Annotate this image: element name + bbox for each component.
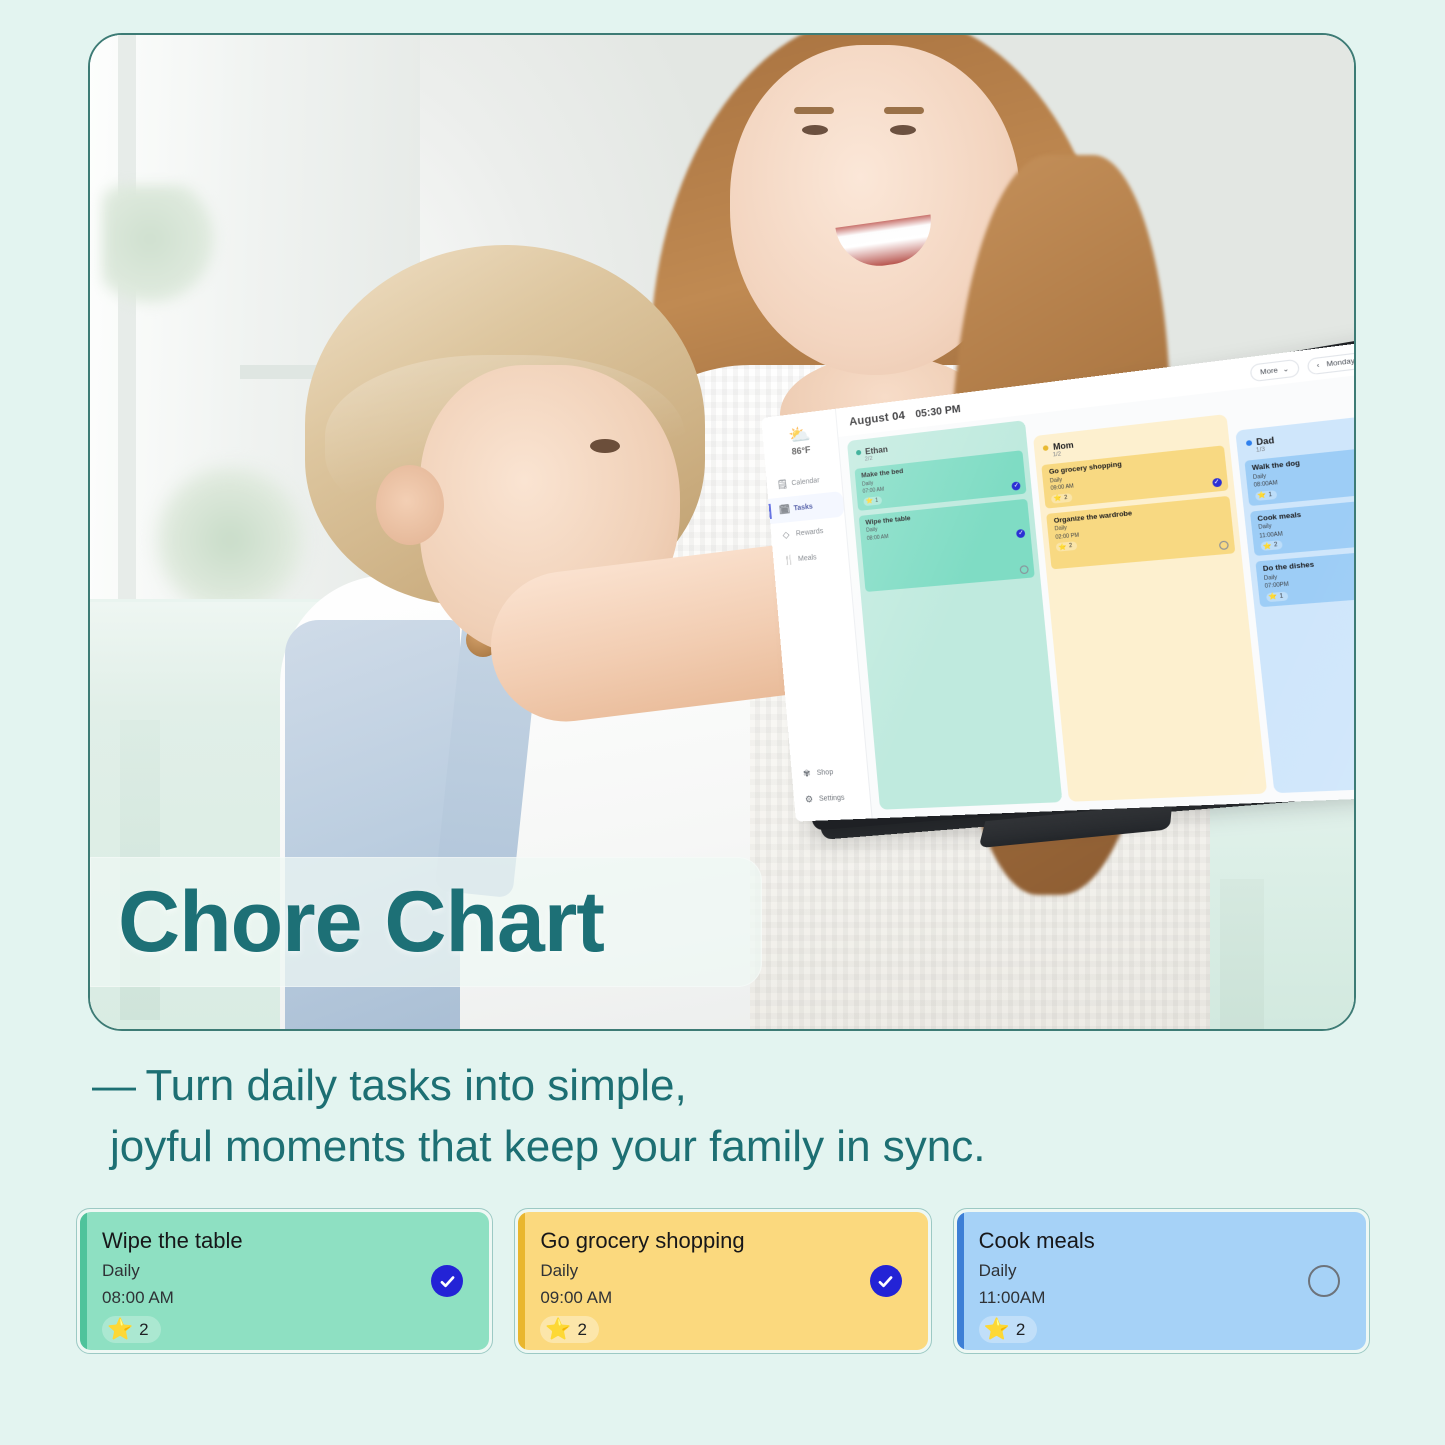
chore-title: Wipe the table [102, 1228, 471, 1254]
chore-star-chip: ⭐ 2 [102, 1316, 161, 1343]
more-label: More [1260, 366, 1278, 376]
status-dot [1043, 445, 1049, 451]
sidebar-item-settings[interactable]: ⚙ Settings [793, 784, 871, 813]
sidebar-item-label: Calendar [791, 477, 820, 487]
task-stars: 2 [1069, 543, 1073, 550]
check-icon [876, 1272, 895, 1291]
sidebar-item-label: Settings [819, 794, 845, 802]
task-stars: 2 [1064, 494, 1068, 501]
plant-blur-decor-2 [150, 465, 310, 615]
tagline-line-1: Turn daily tasks into simple, [145, 1061, 686, 1110]
star-icon: ⭐ [545, 1319, 571, 1340]
star-icon: ⭐ [1053, 494, 1062, 502]
sidebar-item-label: Rewards [796, 528, 824, 538]
tagline-line-2: joyful moments that keep your family in … [92, 1117, 1292, 1178]
rewards-icon: ◇ [781, 529, 792, 541]
chore-stars: 2 [1016, 1320, 1025, 1340]
chore-card[interactable]: Go grocery shopping Daily 09:00 AM ⭐ 2 [518, 1212, 927, 1350]
sidebar-nav: 🗒 Calendar 🗓 Tasks ◇ Rewards [766, 466, 849, 575]
current-date-label: Monday, August 04 [1326, 352, 1356, 368]
task-checkbox-secondary[interactable] [1020, 564, 1029, 573]
chore-repeat: Daily [102, 1261, 471, 1281]
tasks-icon: 🗓 [779, 504, 790, 516]
chore-checkbox[interactable] [431, 1265, 463, 1297]
page-title: Chore Chart [118, 879, 604, 965]
task-stars: 1 [1279, 592, 1283, 599]
feature-cards: Wipe the table Daily 08:00 AM ⭐ 2 Go gro… [76, 1208, 1370, 1354]
app-main: August 04 05:30 PM More ⌄ ‹ Monday, Augu… [836, 332, 1356, 818]
feature-card-wrapper: Wipe the table Daily 08:00 AM ⭐ 2 [76, 1208, 493, 1354]
title-badge: Chore Chart [90, 857, 762, 987]
boy-ear [376, 465, 444, 545]
feature-card-wrapper: Cook meals Daily 11:00AM ⭐ 2 [953, 1208, 1370, 1354]
mother-brow-right [884, 107, 924, 114]
chore-repeat: Daily [979, 1261, 1348, 1281]
task-star-chip: ⭐ 1 [1255, 489, 1278, 500]
chore-title: Go grocery shopping [540, 1228, 909, 1254]
column-name: Dad [1256, 435, 1275, 447]
task-star-chip: ⭐ 2 [1056, 541, 1077, 551]
check-icon [438, 1272, 457, 1291]
tagline: — Turn daily tasks into simple, joyful m… [92, 1056, 1292, 1177]
task-stars: 1 [1268, 491, 1272, 498]
chore-stars: 2 [139, 1320, 148, 1340]
task-star-chip: ⭐ 1 [1266, 591, 1289, 602]
mother-smile [835, 215, 936, 272]
feature-card-wrapper: Go grocery shopping Daily 09:00 AM ⭐ 2 [514, 1208, 931, 1354]
hero-photo: ⛅ 86°F 🗒 Calendar 🗓 Tasks [88, 33, 1356, 1031]
calendar-icon: 🗒 [776, 479, 787, 491]
sidebar-item-shop[interactable]: ✾ Shop [791, 758, 869, 788]
chevron-left-icon[interactable]: ‹ [1316, 361, 1319, 369]
mother-eye-left [802, 125, 828, 135]
page-root: ⛅ 86°F 🗒 Calendar 🗓 Tasks [0, 0, 1445, 1445]
task-checkbox[interactable] [1218, 540, 1228, 550]
task-board: Ethan 2/2 Make the bed Daily 07:00 AM ⭐ [838, 364, 1356, 818]
chore-repeat: Daily [540, 1261, 909, 1281]
chore-time: 08:00 AM [102, 1288, 471, 1308]
star-icon: ⭐ [865, 497, 873, 505]
chore-card[interactable]: Wipe the table Daily 08:00 AM ⭐ 2 [80, 1212, 489, 1350]
star-icon: ⭐ [984, 1319, 1010, 1340]
task-column-mom: Mom 1/2 Go grocery shopping Daily 09:00 … [1033, 414, 1267, 802]
tagline-dash: — [92, 1061, 134, 1110]
task-card[interactable]: Organize the wardrobe Daily 02:00 PM ⭐ 2 [1046, 495, 1234, 569]
boy-eye [590, 439, 620, 453]
chore-star-chip: ⭐ 2 [979, 1316, 1038, 1343]
task-star-chip: ⭐ 2 [1260, 540, 1283, 551]
sidebar-item-label: Shop [816, 769, 833, 777]
chore-star-chip: ⭐ 2 [540, 1316, 599, 1343]
more-dropdown[interactable]: More ⌄ [1250, 359, 1300, 382]
mother-eye-right [890, 125, 916, 135]
gear-icon: ⚙ [804, 794, 815, 806]
card-accent-bar [957, 1212, 964, 1350]
task-column-ethan: Ethan 2/2 Make the bed Daily 07:00 AM ⭐ [847, 420, 1063, 810]
plant-blur-decor [102, 185, 222, 305]
date-navigator[interactable]: ‹ Monday, August 04 › [1306, 345, 1356, 375]
chore-card[interactable]: Cook meals Daily 11:00AM ⭐ 2 [957, 1212, 1366, 1350]
task-stars: 1 [875, 497, 878, 503]
chore-time: 11:00AM [979, 1288, 1348, 1308]
shop-icon: ✾ [801, 768, 812, 780]
chore-time: 09:00 AM [540, 1288, 909, 1308]
weather-widget[interactable]: ⛅ 86°F [762, 415, 840, 468]
star-icon: ⭐ [1058, 543, 1067, 551]
task-card[interactable]: Wipe the table Daily 08:00 AM ✓ [859, 498, 1035, 591]
status-dot [856, 450, 862, 456]
task-checkbox[interactable]: ✓ [1212, 477, 1222, 487]
tablet-device: ⛅ 86°F 🗒 Calendar 🗓 Tasks [749, 344, 1356, 925]
chore-checkbox[interactable] [1308, 1265, 1340, 1297]
task-checkbox[interactable]: ✓ [1016, 528, 1025, 537]
star-icon: ⭐ [107, 1319, 133, 1340]
chore-stars: 2 [577, 1320, 586, 1340]
task-stars: 2 [1274, 542, 1278, 549]
star-icon: ⭐ [1262, 542, 1272, 551]
meals-icon: 🍴 [783, 554, 794, 566]
sidebar-item-label: Tasks [793, 503, 813, 512]
card-accent-bar [518, 1212, 525, 1350]
header-date: August 04 [849, 409, 906, 428]
task-checkbox[interactable]: ✓ [1012, 481, 1021, 490]
chore-title: Cook meals [979, 1228, 1348, 1254]
card-accent-bar [80, 1212, 87, 1350]
task-star-chip: ⭐ 2 [1051, 493, 1072, 504]
chore-checkbox[interactable] [870, 1265, 902, 1297]
tablet-screen: ⛅ 86°F 🗒 Calendar 🗓 Tasks [761, 332, 1356, 821]
mother-brow-left [794, 107, 834, 114]
sidebar-bottom-nav: ✾ Shop ⚙ Settings [791, 758, 872, 822]
star-icon: ⭐ [1257, 491, 1267, 500]
chevron-down-icon: ⌄ [1282, 364, 1289, 374]
task-star-chip: ⭐ 1 [863, 496, 882, 506]
sidebar-item-label: Meals [798, 554, 817, 563]
star-icon: ⭐ [1268, 592, 1278, 601]
header-time: 05:30 PM [915, 403, 961, 420]
status-dot [1245, 440, 1251, 446]
